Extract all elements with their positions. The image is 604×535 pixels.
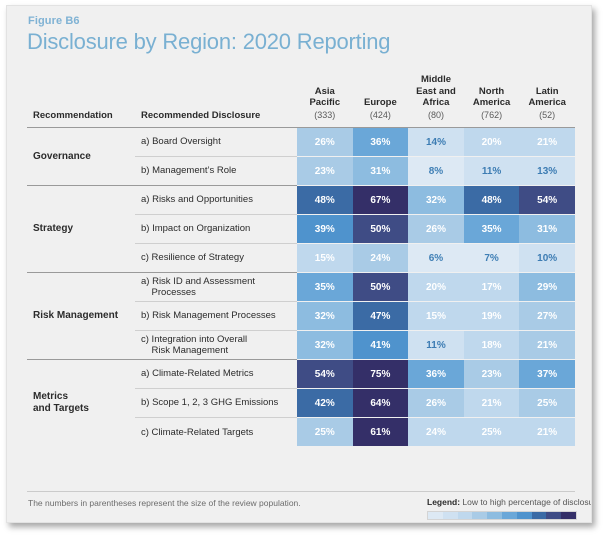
legend-color-bar xyxy=(427,511,577,520)
region-name-line: Europe xyxy=(353,97,409,109)
heatmap-cell: 31% xyxy=(353,157,409,186)
heatmap-cell: 6% xyxy=(408,244,464,273)
table-header: Recommendation Recommended Disclosure As… xyxy=(27,74,575,128)
disclosure-cell: a) Risk ID and Assessment Processes xyxy=(135,273,297,302)
recommendation-cell: Metricsand Targets xyxy=(27,360,135,447)
recommendation-line: Governance xyxy=(33,151,135,163)
disclosure-heatmap-table: Recommendation Recommended Disclosure As… xyxy=(27,74,575,447)
disclosure-line: Processes xyxy=(141,287,293,299)
recommendation-cell: Governance xyxy=(27,128,135,186)
column-header-region: NorthAmerica(762) xyxy=(464,74,520,128)
region-population: (424) xyxy=(353,109,409,122)
table-row: Risk Managementa) Risk ID and Assessment… xyxy=(27,273,575,302)
region-name-line: East and xyxy=(408,86,464,98)
column-header-region: AsiaPacific(333) xyxy=(297,74,353,128)
disclosure-line: a) Risk ID and Assessment xyxy=(141,276,293,288)
table-row: Strategya) Risks and Opportunities48%67%… xyxy=(27,186,575,215)
disclosure-cell: a) Climate-Related Metrics xyxy=(135,360,297,389)
disclosure-cell: b) Scope 1, 2, 3 GHG Emissions xyxy=(135,389,297,418)
heatmap-cell: 17% xyxy=(464,273,520,302)
disclosure-line: c) Resilience of Strategy xyxy=(141,252,293,264)
heatmap-cell: 24% xyxy=(408,418,464,447)
column-header-region: Europe(424) xyxy=(353,74,409,128)
footnote: The numbers in parentheses represent the… xyxy=(28,498,301,508)
region-population: (80) xyxy=(408,109,464,122)
region-population: (52) xyxy=(519,109,575,122)
heatmap-cell: 37% xyxy=(519,360,575,389)
heatmap-cell: 35% xyxy=(297,273,353,302)
legend-swatch xyxy=(443,512,458,519)
region-population: (762) xyxy=(464,109,520,122)
disclosure-line: c) Integration into Overall xyxy=(141,334,293,346)
legend-swatch xyxy=(428,512,443,519)
heatmap-cell: 23% xyxy=(297,157,353,186)
disclosure-line: b) Risk Management Processes xyxy=(141,310,293,322)
heatmap-cell: 61% xyxy=(353,418,409,447)
disclosure-cell: c) Climate-Related Targets xyxy=(135,418,297,447)
column-header-disclosure: Recommended Disclosure xyxy=(135,74,297,128)
region-name-line: Pacific xyxy=(297,97,353,109)
heatmap-cell: 15% xyxy=(408,302,464,331)
legend: Legend: Low to high percentage of disclo… xyxy=(427,497,577,520)
disclosure-cell: b) Risk Management Processes xyxy=(135,302,297,331)
region-name-line: America xyxy=(464,97,520,109)
disclosure-line: Risk Management xyxy=(141,345,293,357)
legend-swatch xyxy=(487,512,502,519)
heatmap-cell: 39% xyxy=(297,215,353,244)
legend-caption: Legend: Low to high percentage of disclo… xyxy=(427,497,577,507)
disclosure-cell: b) Impact on Organization xyxy=(135,215,297,244)
legend-swatch xyxy=(561,512,576,519)
heatmap-cell: 10% xyxy=(519,244,575,273)
figure-label: Figure B6 xyxy=(28,15,80,27)
heatmap-cell: 8% xyxy=(408,157,464,186)
heatmap-cell: 26% xyxy=(408,215,464,244)
column-header-recommendation: Recommendation xyxy=(27,74,135,128)
disclosure-line: b) Impact on Organization xyxy=(141,223,293,235)
heatmap-cell: 54% xyxy=(519,186,575,215)
legend-swatch xyxy=(458,512,473,519)
legend-swatch xyxy=(546,512,561,519)
table-row: Governancea) Board Oversight26%36%14%20%… xyxy=(27,128,575,157)
disclosure-cell: c) Integration into Overall Risk Managem… xyxy=(135,331,297,360)
legend-swatch xyxy=(517,512,532,519)
heatmap-cell: 36% xyxy=(408,360,464,389)
table-body: Governancea) Board Oversight26%36%14%20%… xyxy=(27,128,575,447)
region-name-line: Asia xyxy=(297,86,353,98)
legend-swatch xyxy=(502,512,517,519)
heatmap-cell: 54% xyxy=(297,360,353,389)
recommendation-line: Metrics xyxy=(33,391,135,403)
column-header-region: MiddleEast andAfrica(80) xyxy=(408,74,464,128)
heatmap-cell: 20% xyxy=(464,128,520,157)
heatmap-cell: 23% xyxy=(464,360,520,389)
footer-divider xyxy=(27,491,575,492)
heatmap-cell: 64% xyxy=(353,389,409,418)
disclosure-cell: c) Resilience of Strategy xyxy=(135,244,297,273)
heatmap-cell: 11% xyxy=(408,331,464,360)
recommendation-line: Risk Management xyxy=(33,310,135,322)
heatmap-cell: 27% xyxy=(519,302,575,331)
heatmap-cell: 7% xyxy=(464,244,520,273)
page-title: Disclosure by Region: 2020 Reporting xyxy=(27,29,390,55)
disclosure-line: a) Board Oversight xyxy=(141,136,293,148)
heatmap-cell: 35% xyxy=(464,215,520,244)
region-name-line: Middle xyxy=(408,74,464,86)
heatmap-cell: 20% xyxy=(408,273,464,302)
column-header-region: LatinAmerica(52) xyxy=(519,74,575,128)
heatmap-cell: 25% xyxy=(519,389,575,418)
heatmap-cell: 26% xyxy=(408,389,464,418)
region-population: (333) xyxy=(297,109,353,122)
figure-card: Figure B6 Disclosure by Region: 2020 Rep… xyxy=(6,5,592,523)
disclosure-line: a) Risks and Opportunities xyxy=(141,194,293,206)
heatmap-cell: 75% xyxy=(353,360,409,389)
region-name-line: Latin xyxy=(519,86,575,98)
heatmap-cell: 32% xyxy=(297,302,353,331)
heatmap-cell: 15% xyxy=(297,244,353,273)
legend-swatch xyxy=(472,512,487,519)
heatmap-cell: 41% xyxy=(353,331,409,360)
disclosure-cell: b) Management’s Role xyxy=(135,157,297,186)
heatmap-cell: 25% xyxy=(297,418,353,447)
heatmap-cell: 14% xyxy=(408,128,464,157)
heatmap-cell: 32% xyxy=(297,331,353,360)
heatmap-cell: 29% xyxy=(519,273,575,302)
heatmap-cell: 26% xyxy=(297,128,353,157)
heatmap-cell: 21% xyxy=(519,331,575,360)
heatmap-cell: 67% xyxy=(353,186,409,215)
disclosure-cell: a) Risks and Opportunities xyxy=(135,186,297,215)
recommendation-cell: Risk Management xyxy=(27,273,135,360)
heatmap-cell: 21% xyxy=(519,128,575,157)
disclosure-line: a) Climate-Related Metrics xyxy=(141,368,293,380)
disclosure-cell: a) Board Oversight xyxy=(135,128,297,157)
recommendation-cell: Strategy xyxy=(27,186,135,273)
heatmap-cell: 25% xyxy=(464,418,520,447)
recommendation-line: Strategy xyxy=(33,223,135,235)
region-name-line: North xyxy=(464,86,520,98)
region-name-line: America xyxy=(519,97,575,109)
heatmap-cell: 36% xyxy=(353,128,409,157)
heatmap-cell: 50% xyxy=(353,273,409,302)
heatmap-cell: 48% xyxy=(464,186,520,215)
heatmap-cell: 21% xyxy=(519,418,575,447)
heatmap-cell: 19% xyxy=(464,302,520,331)
legend-swatch xyxy=(532,512,547,519)
heatmap-cell: 13% xyxy=(519,157,575,186)
heatmap-cell: 18% xyxy=(464,331,520,360)
heatmap-cell: 11% xyxy=(464,157,520,186)
heatmap-cell: 42% xyxy=(297,389,353,418)
table-row: Metricsand Targetsa) Climate-Related Met… xyxy=(27,360,575,389)
disclosure-line: c) Climate-Related Targets xyxy=(141,427,293,439)
legend-description: Low to high percentage of disclosure xyxy=(460,497,592,507)
region-name-line: Africa xyxy=(408,97,464,109)
heatmap-cell: 50% xyxy=(353,215,409,244)
disclosure-line: b) Management’s Role xyxy=(141,165,293,177)
legend-label: Legend: xyxy=(427,497,460,507)
heatmap-cell: 32% xyxy=(408,186,464,215)
recommendation-line: and Targets xyxy=(33,403,135,415)
heatmap-cell: 21% xyxy=(464,389,520,418)
heatmap-cell: 31% xyxy=(519,215,575,244)
disclosure-line: b) Scope 1, 2, 3 GHG Emissions xyxy=(141,397,293,409)
heatmap-cell: 47% xyxy=(353,302,409,331)
heatmap-cell: 24% xyxy=(353,244,409,273)
heatmap-cell: 48% xyxy=(297,186,353,215)
